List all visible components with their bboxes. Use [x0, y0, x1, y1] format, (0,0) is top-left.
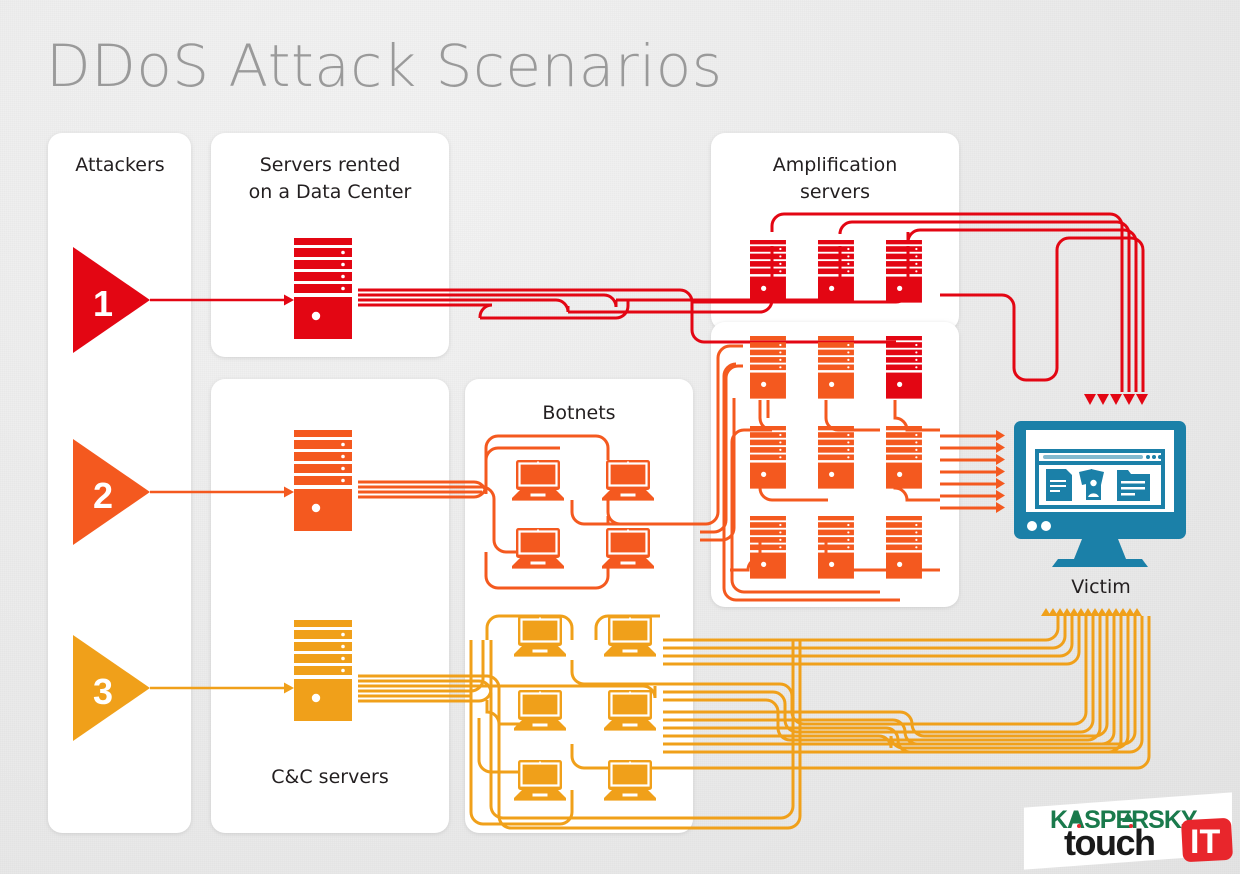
browser-dot-2: [1152, 455, 1156, 459]
server-amplification-grid-r1c1[interactable]: [750, 336, 786, 399]
arrowheads-scenario-3: [1041, 608, 1142, 616]
attacker-number-3: 3: [93, 671, 113, 712]
monitor-led-2: [1041, 521, 1051, 531]
browser-dot-1: [1146, 455, 1150, 459]
laptop-botnet-amber-1[interactable]: [514, 616, 566, 657]
attacker-number-2: 2: [93, 475, 113, 516]
server-data-center-red[interactable]: [294, 238, 352, 339]
server-data-center-orange[interactable]: [294, 430, 352, 531]
monitor-led-1: [1027, 521, 1037, 531]
server-amplification-top-2[interactable]: [818, 240, 854, 303]
panel-label-botnets: Botnets: [466, 400, 692, 427]
touchit-mark: IT: [1190, 823, 1220, 861]
server-amplification-grid-r2c1[interactable]: [750, 426, 786, 489]
laptop-botnet-amber-6[interactable]: [604, 760, 656, 801]
panel-label-cc-servers: C&C servers: [212, 764, 448, 791]
laptop-botnet-orange-3[interactable]: [512, 528, 564, 569]
arrowheads-scenario-2: [996, 430, 1005, 513]
server-amplification-grid-r1c3[interactable]: [886, 336, 922, 399]
attacker-number-1: 1: [93, 283, 113, 324]
touchit-logo: IT touch: [1058, 818, 1238, 862]
victim-label: Victim: [1018, 574, 1184, 601]
logo-block: KASPERSKY lab IT touch: [1024, 800, 1232, 862]
server-amplification-grid-r3c3[interactable]: [886, 516, 922, 579]
server-amplification-grid-r3c2[interactable]: [818, 516, 854, 579]
server-amplification-top-3[interactable]: [886, 240, 922, 303]
folder-icon: [1117, 470, 1150, 501]
flow-scenario-2-to-victim: [940, 436, 998, 508]
laptop-botnet-amber-2[interactable]: [604, 616, 656, 657]
server-amplification-grid-r1c2[interactable]: [818, 336, 854, 399]
browser-dot-3: [1158, 455, 1162, 459]
laptop-botnet-orange-2[interactable]: [602, 460, 654, 501]
server-cc-amber[interactable]: [294, 620, 352, 721]
victim-monitor[interactable]: [1014, 421, 1186, 567]
laptop-botnet-amber-4[interactable]: [604, 690, 656, 731]
panel-label-amplification: Amplification servers: [712, 152, 958, 206]
page-title: DDoS Attack Scenarios: [46, 32, 723, 100]
laptop-botnet-amber-5[interactable]: [514, 760, 566, 801]
touchit-wordmark: touch: [1064, 822, 1154, 862]
document-icon: [1046, 469, 1072, 501]
server-amplification-grid-r3c1[interactable]: [750, 516, 786, 579]
panel-label-data-center: Servers rented on a Data Center: [212, 152, 448, 206]
arrowheads-scenario-1: [1084, 394, 1148, 405]
panel-label-attackers: Attackers: [50, 152, 190, 179]
laptop-botnet-amber-3[interactable]: [514, 690, 566, 731]
laptop-botnet-orange-4[interactable]: [602, 528, 654, 569]
ddos-diagram: 1 2 3: [0, 0, 1240, 874]
server-amplification-grid-r2c2[interactable]: [818, 426, 854, 489]
server-amplification-grid-r2c3[interactable]: [886, 426, 922, 489]
server-amplification-top-1[interactable]: [750, 240, 786, 303]
flow-scenario-3-to-victim: [663, 616, 1149, 768]
laptop-botnet-orange-1[interactable]: [512, 460, 564, 501]
